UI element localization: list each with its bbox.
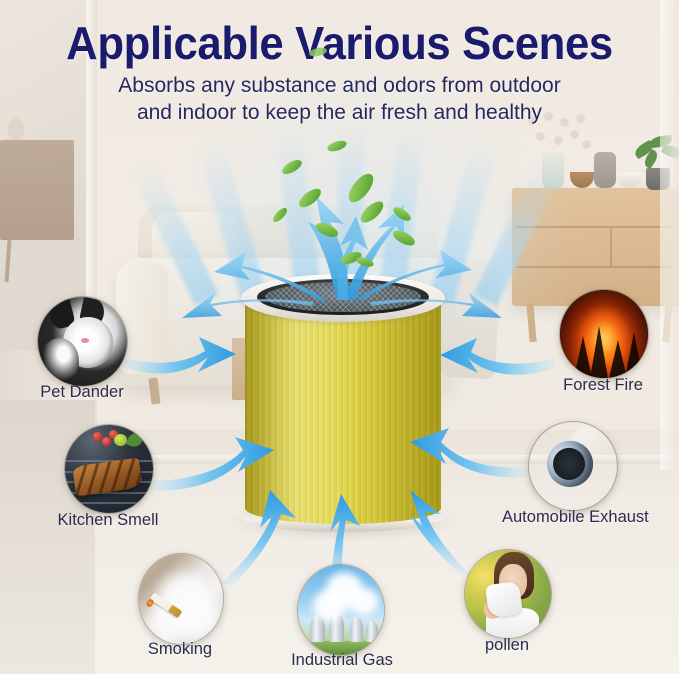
dresser-drawer-line-bottom [516, 266, 676, 268]
scene-label-pet-dander: Pet Dander [17, 383, 147, 402]
fire-photo[interactable] [559, 289, 649, 379]
filter-pleated-body [245, 292, 441, 524]
girl-sneezing-photo[interactable] [464, 549, 552, 639]
smoke-photo-image [139, 554, 223, 644]
exhaust-pipe-photo[interactable] [528, 421, 618, 511]
fire-photo-image [560, 290, 648, 378]
filter-mesh-grille [265, 282, 421, 312]
scene-label-pollen: pollen [447, 636, 567, 655]
pollen-photo-image [465, 550, 551, 638]
dresser [512, 188, 679, 306]
grill-steak-photo[interactable] [64, 424, 154, 514]
cat-nose [81, 338, 89, 343]
dresser-drawer-divider [610, 228, 612, 266]
air-purifier-filter [237, 270, 449, 545]
cigarette-smoke-photo[interactable] [138, 553, 224, 645]
scene-label-forest-fire: Forest Fire [543, 376, 663, 395]
scene-label-automobile-exhaust: Automobile Exhaust [502, 508, 644, 527]
glass-vase [542, 152, 564, 190]
scene-label-smoking: Smoking [120, 640, 240, 659]
dresser-drawer-line-top [516, 226, 676, 228]
scene-label-kitchen-smell: Kitchen Smell [43, 511, 173, 530]
cat-kitten [40, 338, 79, 384]
subtitle-line-2: and indoor to keep the air fresh and hea… [0, 99, 679, 126]
exhaust-photo-image [529, 422, 617, 510]
gray-vase [594, 152, 616, 188]
lime-slice [114, 434, 127, 446]
scene-label-industrial-gas: Industrial Gas [277, 651, 407, 670]
page-subtitle: Absorbs any substance and odors from out… [0, 72, 679, 126]
cat-photo-image [38, 297, 127, 386]
curtain [660, 0, 679, 470]
far-cabinet [0, 140, 74, 240]
infographic-canvas: Applicable Various Scenes Absorbs any su… [0, 0, 679, 674]
grilled-steak [72, 457, 142, 496]
cooling-towers-photo[interactable] [297, 564, 385, 656]
herb-leaf [126, 431, 144, 449]
towers-photo-image [298, 565, 384, 655]
subtitle-line-1: Absorbs any substance and odors from out… [0, 72, 679, 99]
grill-photo-image [65, 425, 153, 513]
cat-photo[interactable] [37, 296, 128, 387]
page-title: Applicable Various Scenes [17, 16, 662, 70]
